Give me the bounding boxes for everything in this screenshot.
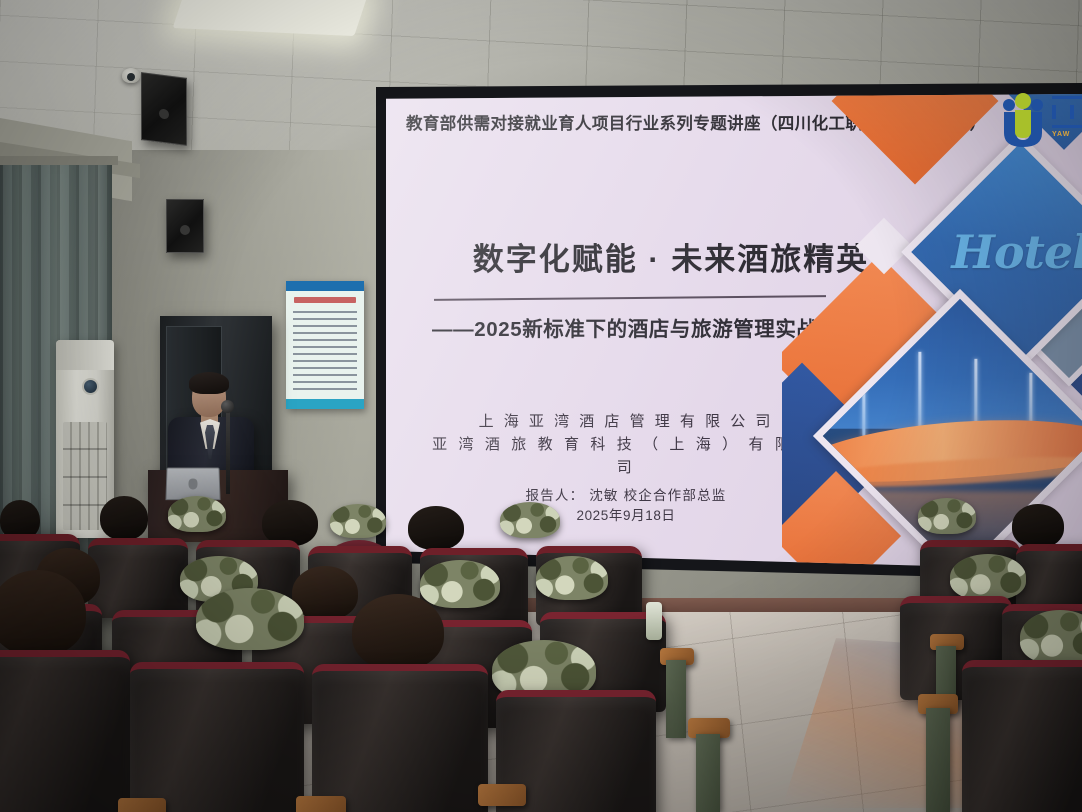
notice-poster: [286, 281, 364, 409]
presentation-date: 2025年9月18日: [426, 506, 826, 526]
seat-post: [666, 660, 686, 738]
seat-post: [926, 708, 950, 812]
slide-divider-rule: [434, 295, 826, 300]
audience-head: [408, 506, 464, 550]
audience-camo-cap: [168, 496, 226, 532]
audience-camo-cap: [950, 554, 1026, 600]
audience-head: [100, 496, 148, 540]
seat: [962, 660, 1082, 812]
seat-post: [696, 734, 720, 812]
air-conditioner-dial-icon: [82, 378, 99, 395]
audience-camo-cap: [536, 556, 608, 600]
artwork-hotel-word: Hotel: [951, 225, 1082, 279]
curtain-rod: [0, 156, 118, 165]
organization-line-1: 上 海 亚 湾 酒 店 管 理 有 限 公 司: [426, 410, 826, 433]
seat-armrest: [296, 796, 346, 812]
audience-camo-cap: [918, 498, 976, 534]
security-camera-icon: [122, 68, 140, 83]
organization-line-2: 亚 湾 酒 旅 教 育 科 技 （ 上 海 ） 有 限 公 司: [426, 433, 826, 479]
artwork-diamond-orange-1: [832, 94, 999, 184]
slide-presenter-block: 报告人： 沈敏 校企合作部总监 2025年9月18日: [426, 486, 826, 526]
slide-organizations: 上 海 亚 湾 酒 店 管 理 有 限 公 司 亚 湾 酒 旅 教 育 科 技 …: [426, 410, 826, 479]
microphone-stand: [226, 406, 230, 494]
yawan-logo-icon: [1000, 92, 1046, 148]
audience-head: [0, 570, 86, 656]
water-bottle: [646, 602, 662, 640]
projection-screen: 教育部供需对接就业育人项目行业系列专题讲座（四川化工职业技术学院·站） 数字化赋…: [386, 94, 1082, 570]
lecture-hall-photo: 教育部供需对接就业育人项目行业系列专题讲座（四川化工职业技术学院·站） 数字化赋…: [0, 0, 1082, 812]
seat: [88, 538, 188, 618]
laptop-logo-icon: [188, 479, 197, 490]
seat: [312, 664, 488, 812]
presenter-hair: [189, 372, 229, 394]
seat: [0, 650, 130, 812]
poster-title-bar: [294, 297, 356, 303]
microphone-icon: [221, 400, 234, 413]
audience-head: [352, 594, 444, 670]
audience-camo-cap: [420, 560, 500, 608]
seat: [130, 662, 304, 812]
presenter-name-line: 报告人： 沈敏 校企合作部总监: [426, 486, 826, 506]
audience-head: [1012, 504, 1064, 548]
audience-camo-cap: [500, 502, 560, 538]
artwork-diamond-white-1: [856, 218, 913, 275]
seat-armrest: [118, 798, 166, 812]
poster-body-text: [293, 311, 357, 395]
wall-speaker-left: [141, 72, 187, 146]
audience-camo-cap: [196, 588, 304, 650]
seat-armrest: [478, 784, 526, 806]
wall-speaker-lower: [166, 199, 204, 253]
air-conditioner-top: [56, 340, 114, 370]
audience-camo-cap: [330, 504, 386, 538]
yawan-logo-wordmark: YAW: [1052, 96, 1082, 146]
audience-camo-cap: [1020, 610, 1082, 664]
